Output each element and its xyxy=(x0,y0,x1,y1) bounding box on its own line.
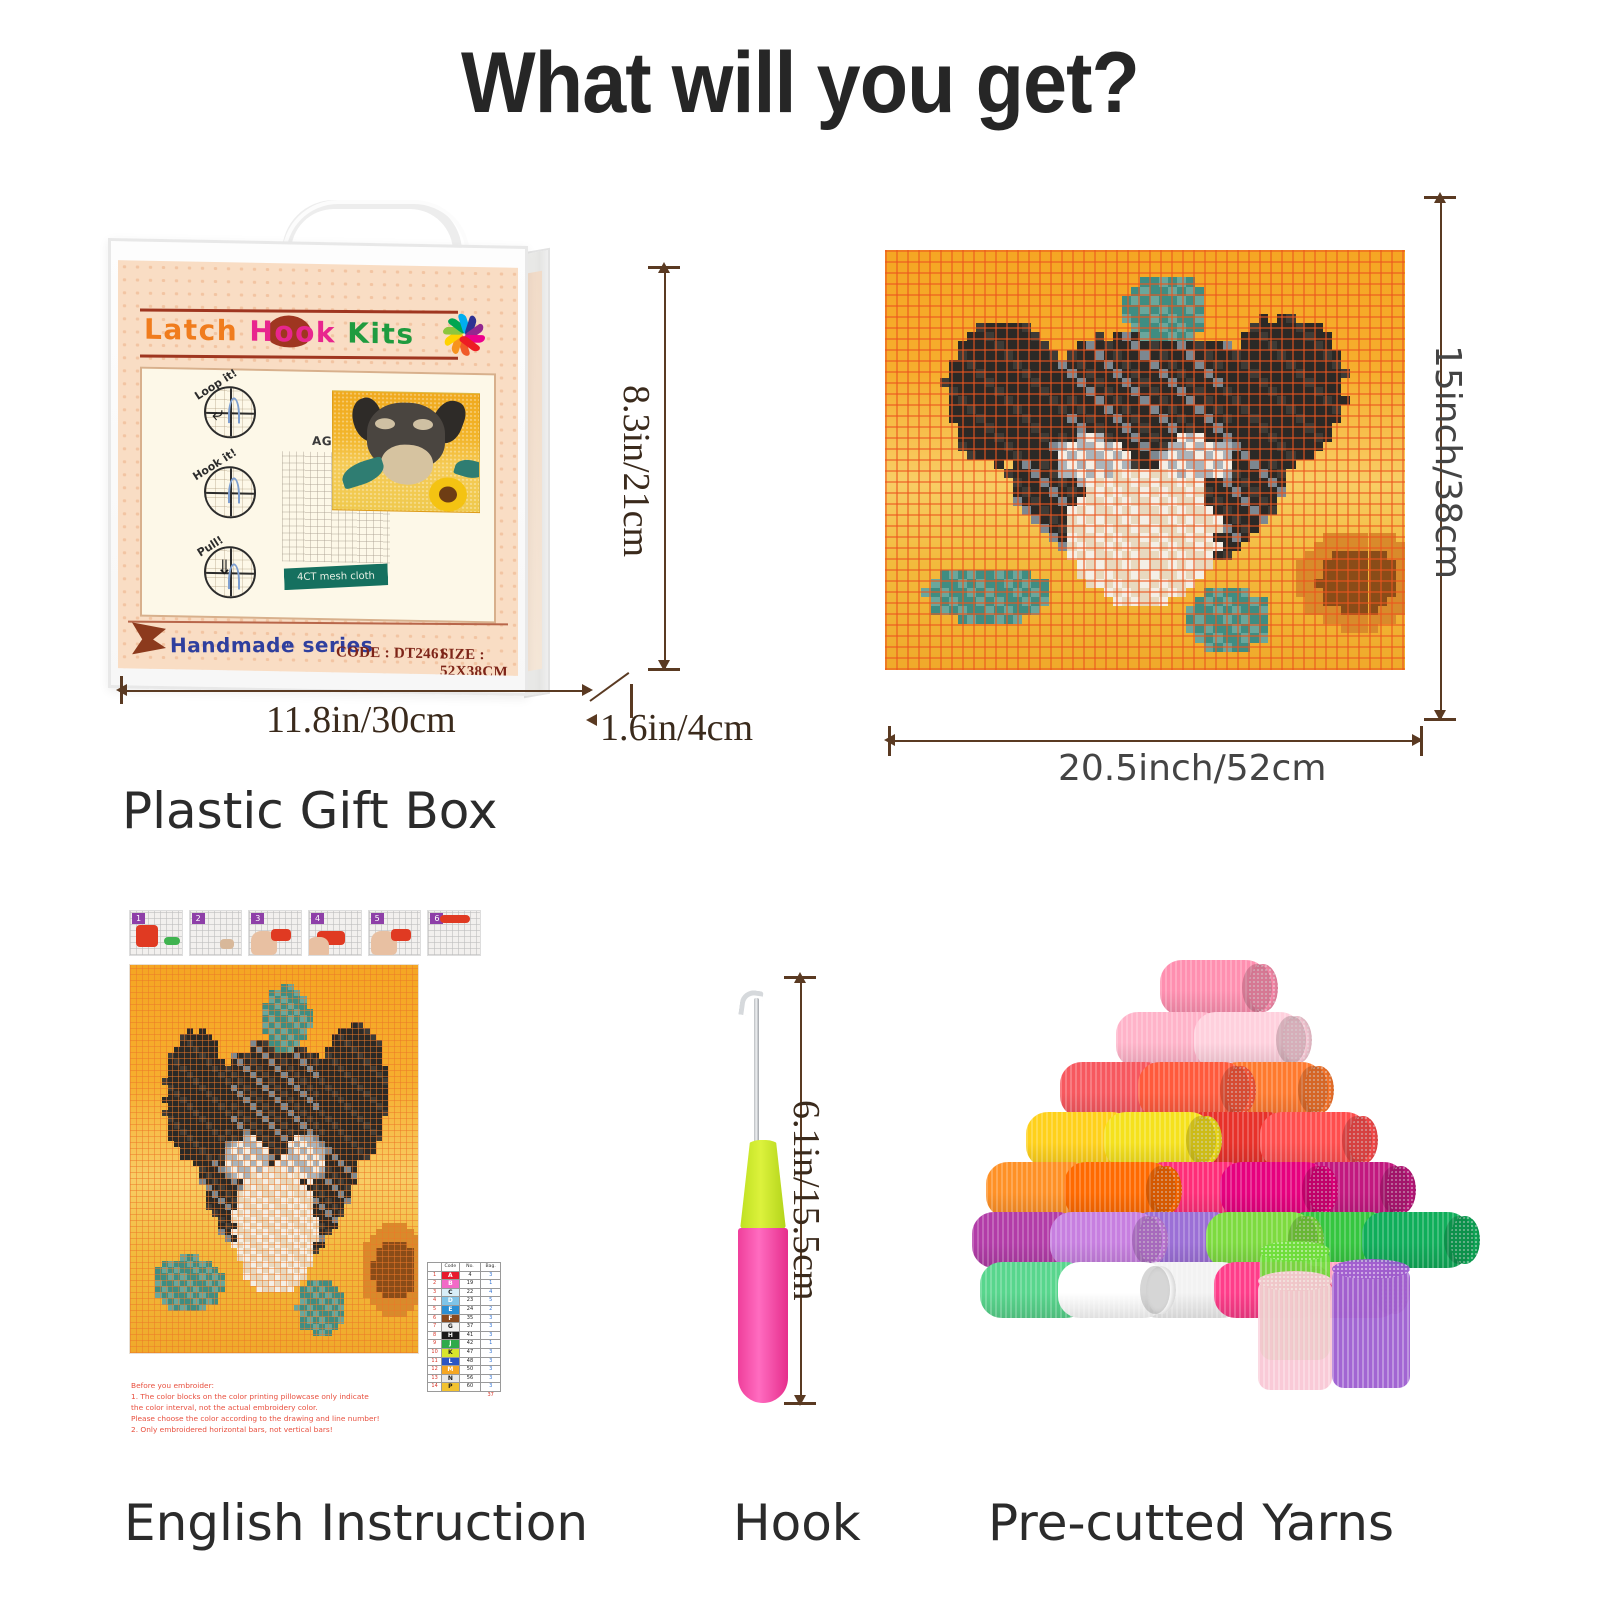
color-row-bag: 3 xyxy=(481,1366,501,1375)
color-table-row: 8H413 xyxy=(428,1331,501,1340)
color-row-index: 3 xyxy=(428,1288,442,1297)
step-photo-thumbnail: 2 xyxy=(189,910,243,956)
ribbon-tag-icon xyxy=(132,622,166,655)
step-photo-thumbnail: 5 xyxy=(368,910,422,956)
color-row-index: 4 xyxy=(428,1297,442,1306)
color-row-code-swatch: L xyxy=(442,1357,459,1366)
color-row-bag: 3 xyxy=(481,1383,501,1392)
color-row-bag: 1 xyxy=(481,1280,501,1289)
finished-rug-photo xyxy=(332,390,480,513)
color-row-bag: 5 xyxy=(481,1297,501,1306)
color-row-bag: 1 xyxy=(481,1340,501,1349)
color-row-index: 9 xyxy=(428,1340,442,1349)
yarn-bundle-end xyxy=(1146,1266,1176,1314)
thumbnail-number-badge: 3 xyxy=(251,913,264,924)
color-row-number: 23 xyxy=(459,1297,481,1306)
product-size: SIZE : 52X38CM xyxy=(440,646,518,675)
brand-wordmark: Latch Hook Kits xyxy=(144,313,415,351)
color-row-number: 22 xyxy=(459,1288,481,1297)
canvas-height-label: 15inch/38cm xyxy=(1427,345,1468,579)
color-row-number: 24 xyxy=(459,1305,481,1314)
color-row-code-swatch: N xyxy=(442,1374,459,1383)
yarn-bundle xyxy=(1160,960,1268,1016)
color-row-code-swatch: F xyxy=(442,1314,459,1323)
pattern-chart xyxy=(129,964,419,1354)
series-mark: " xyxy=(286,639,292,654)
caption-hook: Hook xyxy=(733,1494,861,1552)
hook-handle-lower xyxy=(738,1228,788,1403)
yarn-bundle-end xyxy=(1304,1066,1334,1114)
color-code-table: CodeNo.Bag. 1A432B1913C2244D2355E2426F35… xyxy=(427,1262,501,1400)
color-table-total-row: 37 xyxy=(428,1391,501,1399)
color-table-row: 14P603 xyxy=(428,1383,501,1392)
color-row-number: 48 xyxy=(459,1357,481,1366)
note-line-2: the color interval, not the actual embro… xyxy=(131,1402,423,1413)
dog-snout-shape xyxy=(381,444,433,485)
color-table-row: 7G373 xyxy=(428,1323,501,1332)
yarn-bundle-end xyxy=(1386,1166,1416,1214)
color-table-row: 13N563 xyxy=(428,1374,501,1383)
label-footer: Handmade series " CODE : DT2461 SIZE : 5… xyxy=(118,616,518,676)
color-row-number: 35 xyxy=(459,1314,481,1323)
thumbnail-number-badge: 2 xyxy=(192,913,205,924)
box-width-label: 11.8in/30cm xyxy=(266,698,456,742)
step-photo-thumbnail: 6 xyxy=(427,910,481,956)
product-code: CODE : DT2461 xyxy=(336,644,447,663)
before-you-embroider-note: Before you embroider: 1. The color block… xyxy=(131,1380,423,1436)
color-row-index: 8 xyxy=(428,1331,442,1340)
caption-plastic-gift-box: Plastic Gift Box xyxy=(122,782,497,840)
hook-length-label: 6.1in/15.5cm xyxy=(784,1100,828,1301)
color-table-row: 12M503 xyxy=(428,1366,501,1375)
color-table-row: 5E242 xyxy=(428,1305,501,1314)
color-table-header-0 xyxy=(428,1263,442,1272)
color-row-bag: 3 xyxy=(481,1348,501,1357)
yarn-bundle-end xyxy=(1248,964,1278,1012)
color-row-code-swatch: A xyxy=(442,1271,459,1280)
color-table-row: 6F353 xyxy=(428,1314,501,1323)
wordmark-hook: Hook xyxy=(249,315,336,350)
color-table-row: 9J421 xyxy=(428,1340,501,1349)
yarn-bundle xyxy=(1064,1162,1172,1218)
color-row-bag: 4 xyxy=(481,1288,501,1297)
color-table-row: 11L483 xyxy=(428,1357,501,1366)
yarn-bundle xyxy=(1058,1262,1166,1318)
color-table-row: 2B191 xyxy=(428,1280,501,1289)
color-row-bag: 3 xyxy=(481,1314,501,1323)
color-row-code-swatch: P xyxy=(442,1383,459,1392)
color-row-index: 11 xyxy=(428,1357,442,1366)
pinwheel-logo-icon xyxy=(436,310,484,359)
color-row-index: 10 xyxy=(428,1348,442,1357)
pre-cutted-yarns-figure xyxy=(960,950,1460,1420)
color-row-index: 13 xyxy=(428,1374,442,1383)
box-height-label: 8.3in/21cm xyxy=(614,385,658,557)
color-row-code-swatch: K xyxy=(442,1348,459,1357)
step-photo-thumbnail: 3 xyxy=(248,910,302,956)
color-row-code-swatch: H xyxy=(442,1331,459,1340)
yarn-bundle xyxy=(1220,1162,1328,1218)
color-row-code-swatch: C xyxy=(442,1288,459,1297)
color-row-index: 5 xyxy=(428,1305,442,1314)
yarn-bundle xyxy=(1194,1012,1302,1068)
color-row-code-swatch: J xyxy=(442,1340,459,1349)
note-line-3: Please choose the color according to the… xyxy=(131,1413,423,1424)
color-table-row: 1A43 xyxy=(428,1271,501,1280)
yarn-bundle-end xyxy=(1152,1166,1182,1214)
yarn-bundle-end xyxy=(1226,1066,1256,1114)
color-table-header-1: Code xyxy=(442,1263,459,1272)
note-line-1: 1. The color blocks on the color printin… xyxy=(131,1391,423,1402)
color-table-header-3: Bag. xyxy=(481,1263,501,1272)
yarn-bundle-upright xyxy=(1332,1268,1410,1388)
caption-pre-cutted-yarns: Pre-cutted Yarns xyxy=(988,1494,1394,1552)
english-instruction-figure: 123456 CodeNo.Bag. 1A432B1913C2244D2355E… xyxy=(125,900,485,1460)
printed-canvas-figure xyxy=(885,250,1405,670)
hook-tip-icon xyxy=(738,989,763,1018)
color-table-total: 37 xyxy=(481,1391,501,1399)
hook-needle xyxy=(754,998,759,1148)
thumbnail-number-badge: 5 xyxy=(371,913,384,924)
step-diagram-loop: ⤶ xyxy=(204,386,256,439)
sunflower-shape xyxy=(429,477,467,512)
color-row-bag: 3 xyxy=(481,1331,501,1340)
note-line-4: 2. Only embroidered horizontal bars, not… xyxy=(131,1424,423,1435)
color-row-index: 12 xyxy=(428,1366,442,1375)
thumbnail-number-badge: 4 xyxy=(311,913,324,924)
color-row-number: 37 xyxy=(459,1323,481,1332)
label-inner-card: Loop it! ⤶ Hook it! Pull! ⇓ AGE+6 ! 4CT … xyxy=(140,367,496,624)
color-table-row: 10K473 xyxy=(428,1348,501,1357)
yarn-bundle-end xyxy=(1450,1216,1480,1264)
color-row-bag: 3 xyxy=(481,1323,501,1332)
color-table-header-2: No. xyxy=(459,1263,481,1272)
canvas-width-label: 20.5inch/52cm xyxy=(1058,748,1326,789)
box-depth-label: 1.6in/4cm xyxy=(600,706,753,750)
yarn-bundle-end xyxy=(1308,1166,1338,1214)
caption-english-instruction: English Instruction xyxy=(124,1494,588,1552)
color-row-code-swatch: E xyxy=(442,1305,459,1314)
yarn-bundle-end xyxy=(1138,1216,1168,1264)
color-row-code-swatch: B xyxy=(442,1280,459,1289)
color-table-row: 4D235 xyxy=(428,1297,501,1306)
color-row-index: 14 xyxy=(428,1383,442,1392)
wordmark-kits: Kits xyxy=(347,317,414,351)
pattern-chart-grid xyxy=(130,965,418,1353)
color-row-index: 2 xyxy=(428,1280,442,1289)
color-row-number: 4 xyxy=(459,1271,481,1280)
note-heading: Before you embroider: xyxy=(131,1380,423,1391)
yarn-bundle xyxy=(1050,1212,1158,1268)
color-row-number: 47 xyxy=(459,1348,481,1357)
step-diagram-pull: ⇓ xyxy=(204,546,256,599)
color-row-number: 50 xyxy=(459,1366,481,1375)
color-row-index: 1 xyxy=(428,1271,442,1280)
step-diagram-hook xyxy=(204,466,256,519)
canvas-mesh-grid xyxy=(885,250,1405,670)
hook-handle-upper xyxy=(740,1140,786,1230)
yarn-bundle-end xyxy=(1192,1116,1222,1164)
yarn-bundle xyxy=(1104,1112,1212,1168)
color-row-code-swatch: M xyxy=(442,1366,459,1375)
color-table-row: 3C224 xyxy=(428,1288,501,1297)
wordmark-latch: Latch xyxy=(144,313,238,348)
box-side-strip xyxy=(528,271,542,671)
mesh-cloth-ribbon: 4CT mesh cloth xyxy=(284,564,389,591)
yarn-bundle-end xyxy=(1348,1116,1378,1164)
thumbnail-number-badge: 1 xyxy=(132,913,145,924)
color-row-index: 6 xyxy=(428,1314,442,1323)
color-row-bag: 3 xyxy=(481,1271,501,1280)
yarn-bundle xyxy=(1260,1112,1368,1168)
step-photo-thumbnail-strip: 123456 xyxy=(129,910,481,958)
color-row-number: 42 xyxy=(459,1340,481,1349)
color-row-bag: 3 xyxy=(481,1357,501,1366)
color-row-number: 19 xyxy=(459,1280,481,1289)
page-title: What will you get? xyxy=(64,34,1536,133)
step-photo-thumbnail: 1 xyxy=(129,910,183,956)
color-row-bag: 2 xyxy=(481,1305,501,1314)
yarn-bundle-end xyxy=(1282,1016,1312,1064)
color-row-number: 41 xyxy=(459,1331,481,1340)
color-row-number: 60 xyxy=(459,1383,481,1392)
box-printed-label: Latch Hook Kits Loop it! ⤶ Hook it! Pull… xyxy=(118,260,518,676)
yarn-bundle xyxy=(1138,1062,1246,1118)
color-row-index: 7 xyxy=(428,1323,442,1332)
color-row-code-swatch: D xyxy=(442,1297,459,1306)
color-table-header-row: CodeNo.Bag. xyxy=(428,1263,501,1272)
color-row-code-swatch: G xyxy=(442,1323,459,1332)
color-row-bag: 3 xyxy=(481,1374,501,1383)
color-row-number: 56 xyxy=(459,1374,481,1383)
yarn-bundle-upright xyxy=(1258,1280,1332,1390)
step-photo-thumbnail: 4 xyxy=(308,910,362,956)
